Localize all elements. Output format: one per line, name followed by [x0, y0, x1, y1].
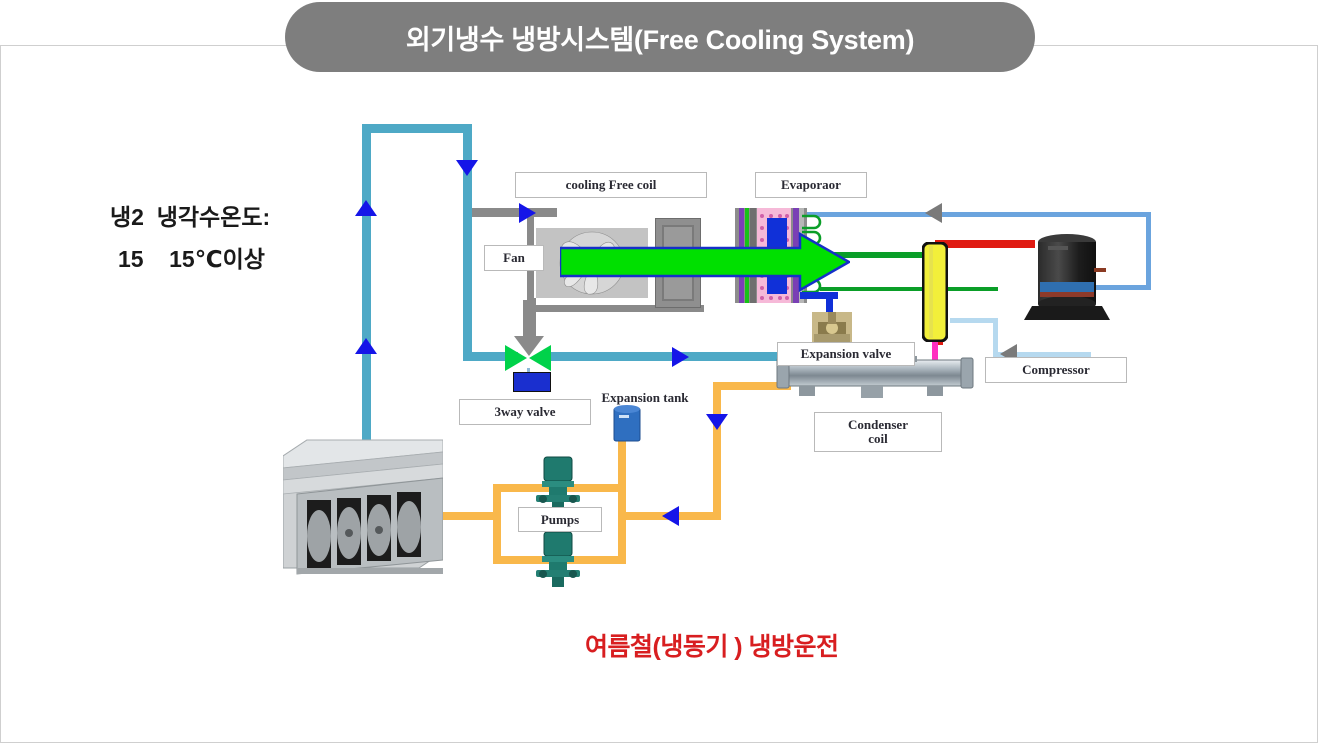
label-cooling-free-coil: cooling Free coil — [515, 172, 707, 198]
expansion-tank-icon — [612, 404, 642, 444]
expansion-valve — [812, 312, 852, 346]
label-expansion-valve: Expansion valve — [777, 342, 915, 366]
coolant-temp-note-line2: 15 15℃이상 — [118, 240, 265, 274]
flow-arrow-down-2 — [706, 414, 728, 430]
pipe-teal-downleg — [463, 124, 472, 356]
diagram-canvas: 외기냉수 냉방시스템(Free Cooling System) 냉2 냉각수온도… — [0, 0, 1320, 745]
airflow-arrow — [560, 232, 850, 292]
flow-arrow-down-1 — [456, 160, 478, 176]
pipe-teal-top — [362, 124, 472, 133]
three-way-valve-left-seat — [505, 345, 527, 371]
pipe-suction-top — [806, 212, 1151, 217]
label-condenser-coil-line2: coil — [868, 432, 888, 446]
pipe-teal-riser — [362, 124, 371, 444]
pipe-orange-pump-header-left — [493, 484, 501, 564]
cooling-tower-icon — [283, 434, 443, 582]
compressor-icon — [1022, 230, 1112, 325]
flow-arrow-right-1 — [672, 347, 689, 367]
pump-icon — [530, 530, 586, 588]
pump-icon — [530, 455, 586, 513]
expansion-tank — [612, 404, 642, 444]
label-pumps: Pumps — [518, 507, 602, 532]
label-expansion-tank: Expansion tank — [590, 388, 700, 408]
plate-heat-exchanger — [922, 242, 948, 342]
green-arrow-icon — [560, 232, 850, 292]
bottom-caption: 여름철(냉동기 ) 냉방운전 — [585, 627, 839, 663]
label-evaporator: Evaporaor — [755, 172, 867, 198]
pipe-lightblue-vert — [993, 318, 998, 356]
pipe-suction-right-vert — [1146, 212, 1151, 290]
label-fan: Fan — [484, 245, 544, 271]
page-title: 외기냉수 냉방시스템(Free Cooling System) — [406, 18, 914, 57]
flow-arrow-left-1 — [662, 506, 679, 526]
duct-top-inlet — [472, 208, 557, 217]
pipe-orange-riser — [618, 432, 626, 564]
flow-arrow-duct-right — [519, 203, 536, 223]
pipe-hotgas-horiz — [935, 240, 1035, 248]
compressor-unit — [1022, 230, 1112, 325]
flow-arrow-up-1 — [355, 200, 377, 216]
heat-exchanger-icon — [922, 242, 948, 342]
pipe-orange-to-condenser-vert — [713, 382, 721, 520]
three-way-valve-right-seat — [529, 345, 551, 371]
flow-arrow-up-2 — [355, 338, 377, 354]
cooling-tower — [283, 434, 443, 582]
diagram-title-pill: 외기냉수 냉방시스템(Free Cooling System) — [285, 2, 1035, 72]
label-3way-valve: 3way valve — [459, 399, 591, 425]
pump-1 — [530, 455, 586, 513]
coolant-temp-note-line1: 냉2 냉각수온도: — [110, 198, 270, 232]
pump-2 — [530, 530, 586, 588]
label-condenser-coil: Condenser coil — [814, 412, 942, 452]
expansion-valve-icon — [812, 312, 852, 346]
flow-arrow-suction — [925, 203, 942, 223]
pipe-orange-tower-out — [443, 512, 499, 520]
label-condenser-coil-line1: Condenser — [848, 418, 908, 432]
label-compressor: Compressor — [985, 357, 1127, 383]
three-way-valve-actuator — [513, 372, 551, 392]
pipe-lightblue-1 — [950, 318, 998, 323]
